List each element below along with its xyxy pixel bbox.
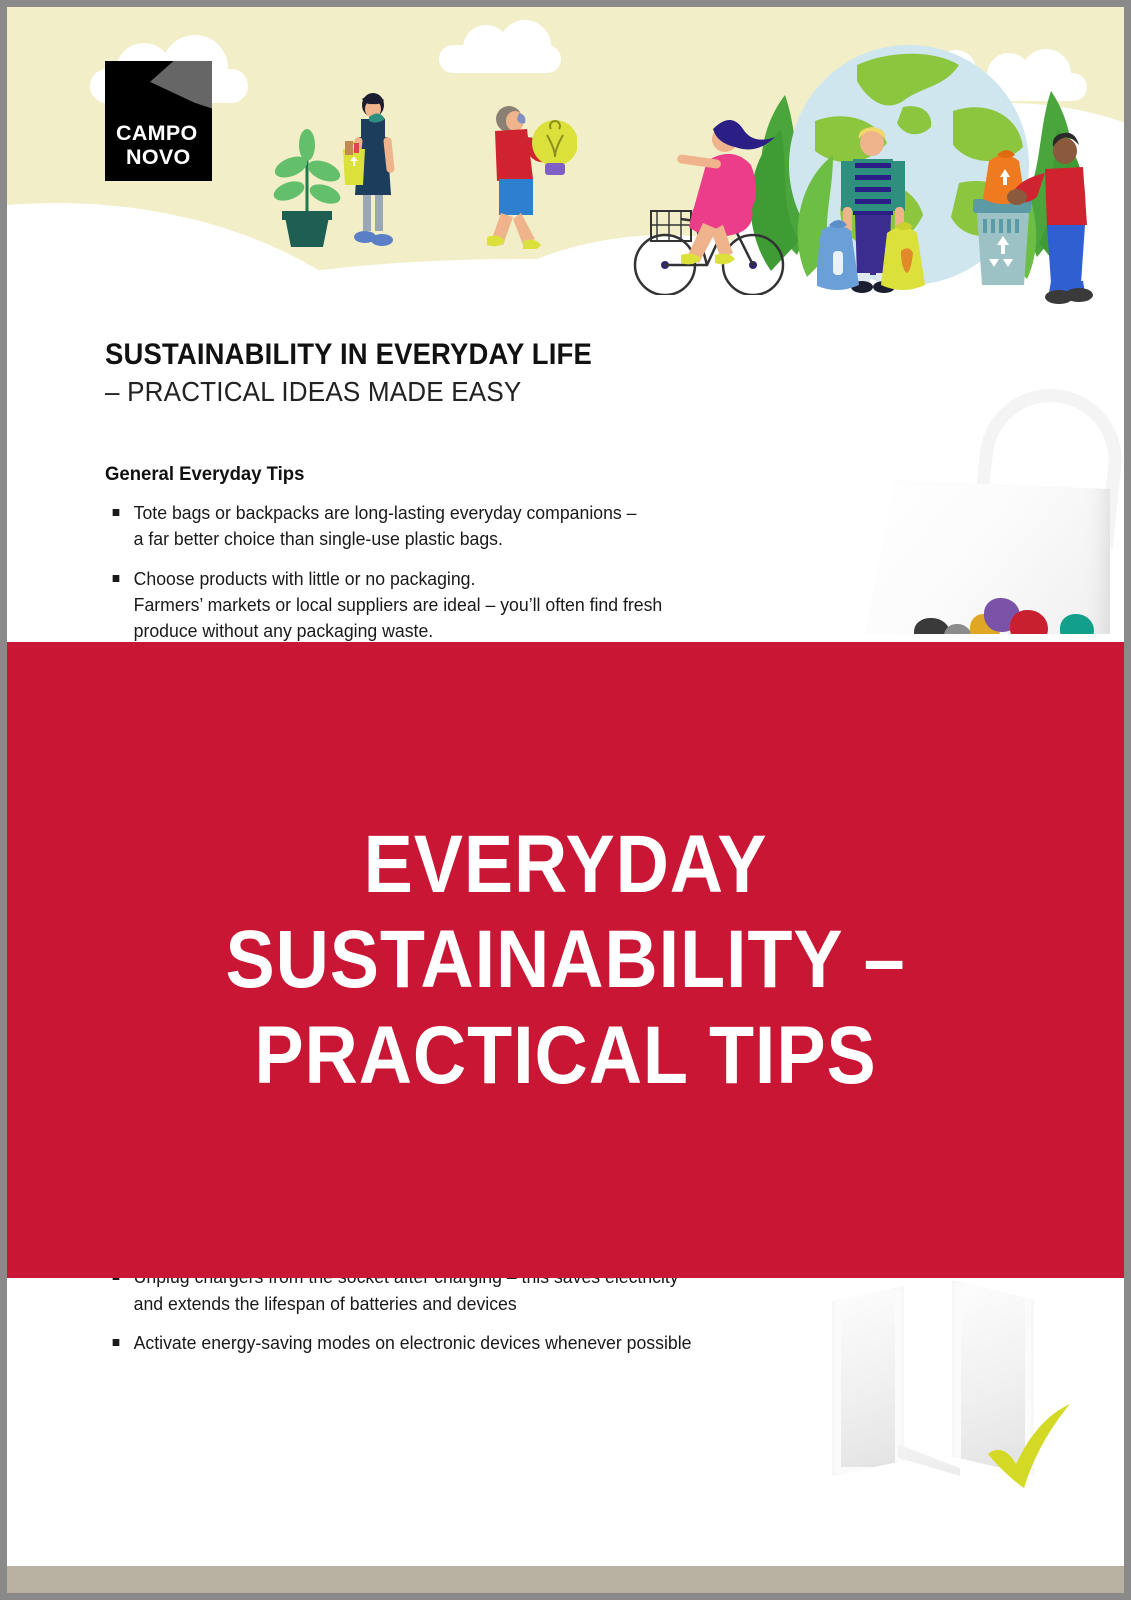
person-with-recycling-bin-illustration [967, 127, 1097, 307]
header-illustration-band: CAMPO NOVO [7, 7, 1124, 310]
logo-wordmark: CAMPO NOVO [116, 121, 198, 169]
tip-line: Choose products with little or no packag… [134, 566, 831, 592]
page-title: SUSTAINABILITY IN EVERYDAY LIFE [105, 338, 756, 372]
bullet-icon [113, 1339, 120, 1346]
window-sill [898, 1410, 960, 1476]
tip-line: Farmers’ markets or local suppliers are … [134, 592, 831, 618]
logo-line-2: NOVO [116, 145, 198, 169]
banner-line-1: EVERYDAY [63, 817, 1068, 912]
tip-line: and extends the lifespan of batteries an… [134, 1291, 831, 1317]
tip-line: Activate energy-saving modes on electron… [134, 1330, 831, 1356]
person-carrying-lightbulb-illustration [477, 101, 577, 249]
tip-line: Tote bags or backpacks are long-lasting … [134, 500, 831, 526]
general-tips-section: General Everyday Tips Tote bags or backp… [105, 463, 865, 657]
cloud-icon [439, 45, 561, 73]
section-heading-general: General Everyday Tips [105, 463, 827, 486]
banner-line-2: SUSTAINABILITY – [63, 912, 1068, 1007]
person-with-recycling-bags-illustration [817, 125, 927, 303]
bullet-icon [113, 509, 120, 516]
logo-accent-shape [150, 61, 212, 119]
list-item: Choose products with little or no packag… [105, 566, 831, 645]
red-banner-overlay: EVERYDAY SUSTAINABILITY – PRACTICAL TIPS [7, 642, 1124, 1278]
tip-line: a far better choice than single-use plas… [134, 526, 831, 552]
white-tote-bag-photo [852, 362, 1124, 634]
bullet-icon [113, 575, 120, 582]
list-item: Activate energy-saving modes on electron… [105, 1330, 831, 1356]
yellow-checkmark-illustration [982, 1402, 1080, 1494]
document-page: CAMPO NOVO SUSTAINABILITY IN EVERYDAY LI… [7, 7, 1124, 1593]
potted-plant-illustration [269, 119, 347, 249]
list-item: Tote bags or backpacks are long-lasting … [105, 500, 831, 553]
woman-on-bicycle-illustration [629, 105, 789, 295]
logo-line-1: CAMPO [116, 121, 198, 145]
tip-line: produce without any packaging waste. [134, 618, 831, 644]
footer-bar [7, 1566, 1124, 1593]
banner-line-3: PRACTICAL TIPS [63, 1008, 1068, 1103]
page-subtitle: – PRACTICAL IDEAS MADE EASY [105, 374, 756, 410]
banner-headline: EVERYDAY SUSTAINABILITY – PRACTICAL TIPS [63, 817, 1068, 1102]
page-title-block: SUSTAINABILITY IN EVERYDAY LIFE – PRACTI… [105, 338, 805, 411]
woman-with-tote-bag-illustration [339, 91, 405, 256]
campo-novo-logo: CAMPO NOVO [105, 61, 212, 181]
general-tips-list: Tote bags or backpacks are long-lasting … [105, 500, 865, 644]
